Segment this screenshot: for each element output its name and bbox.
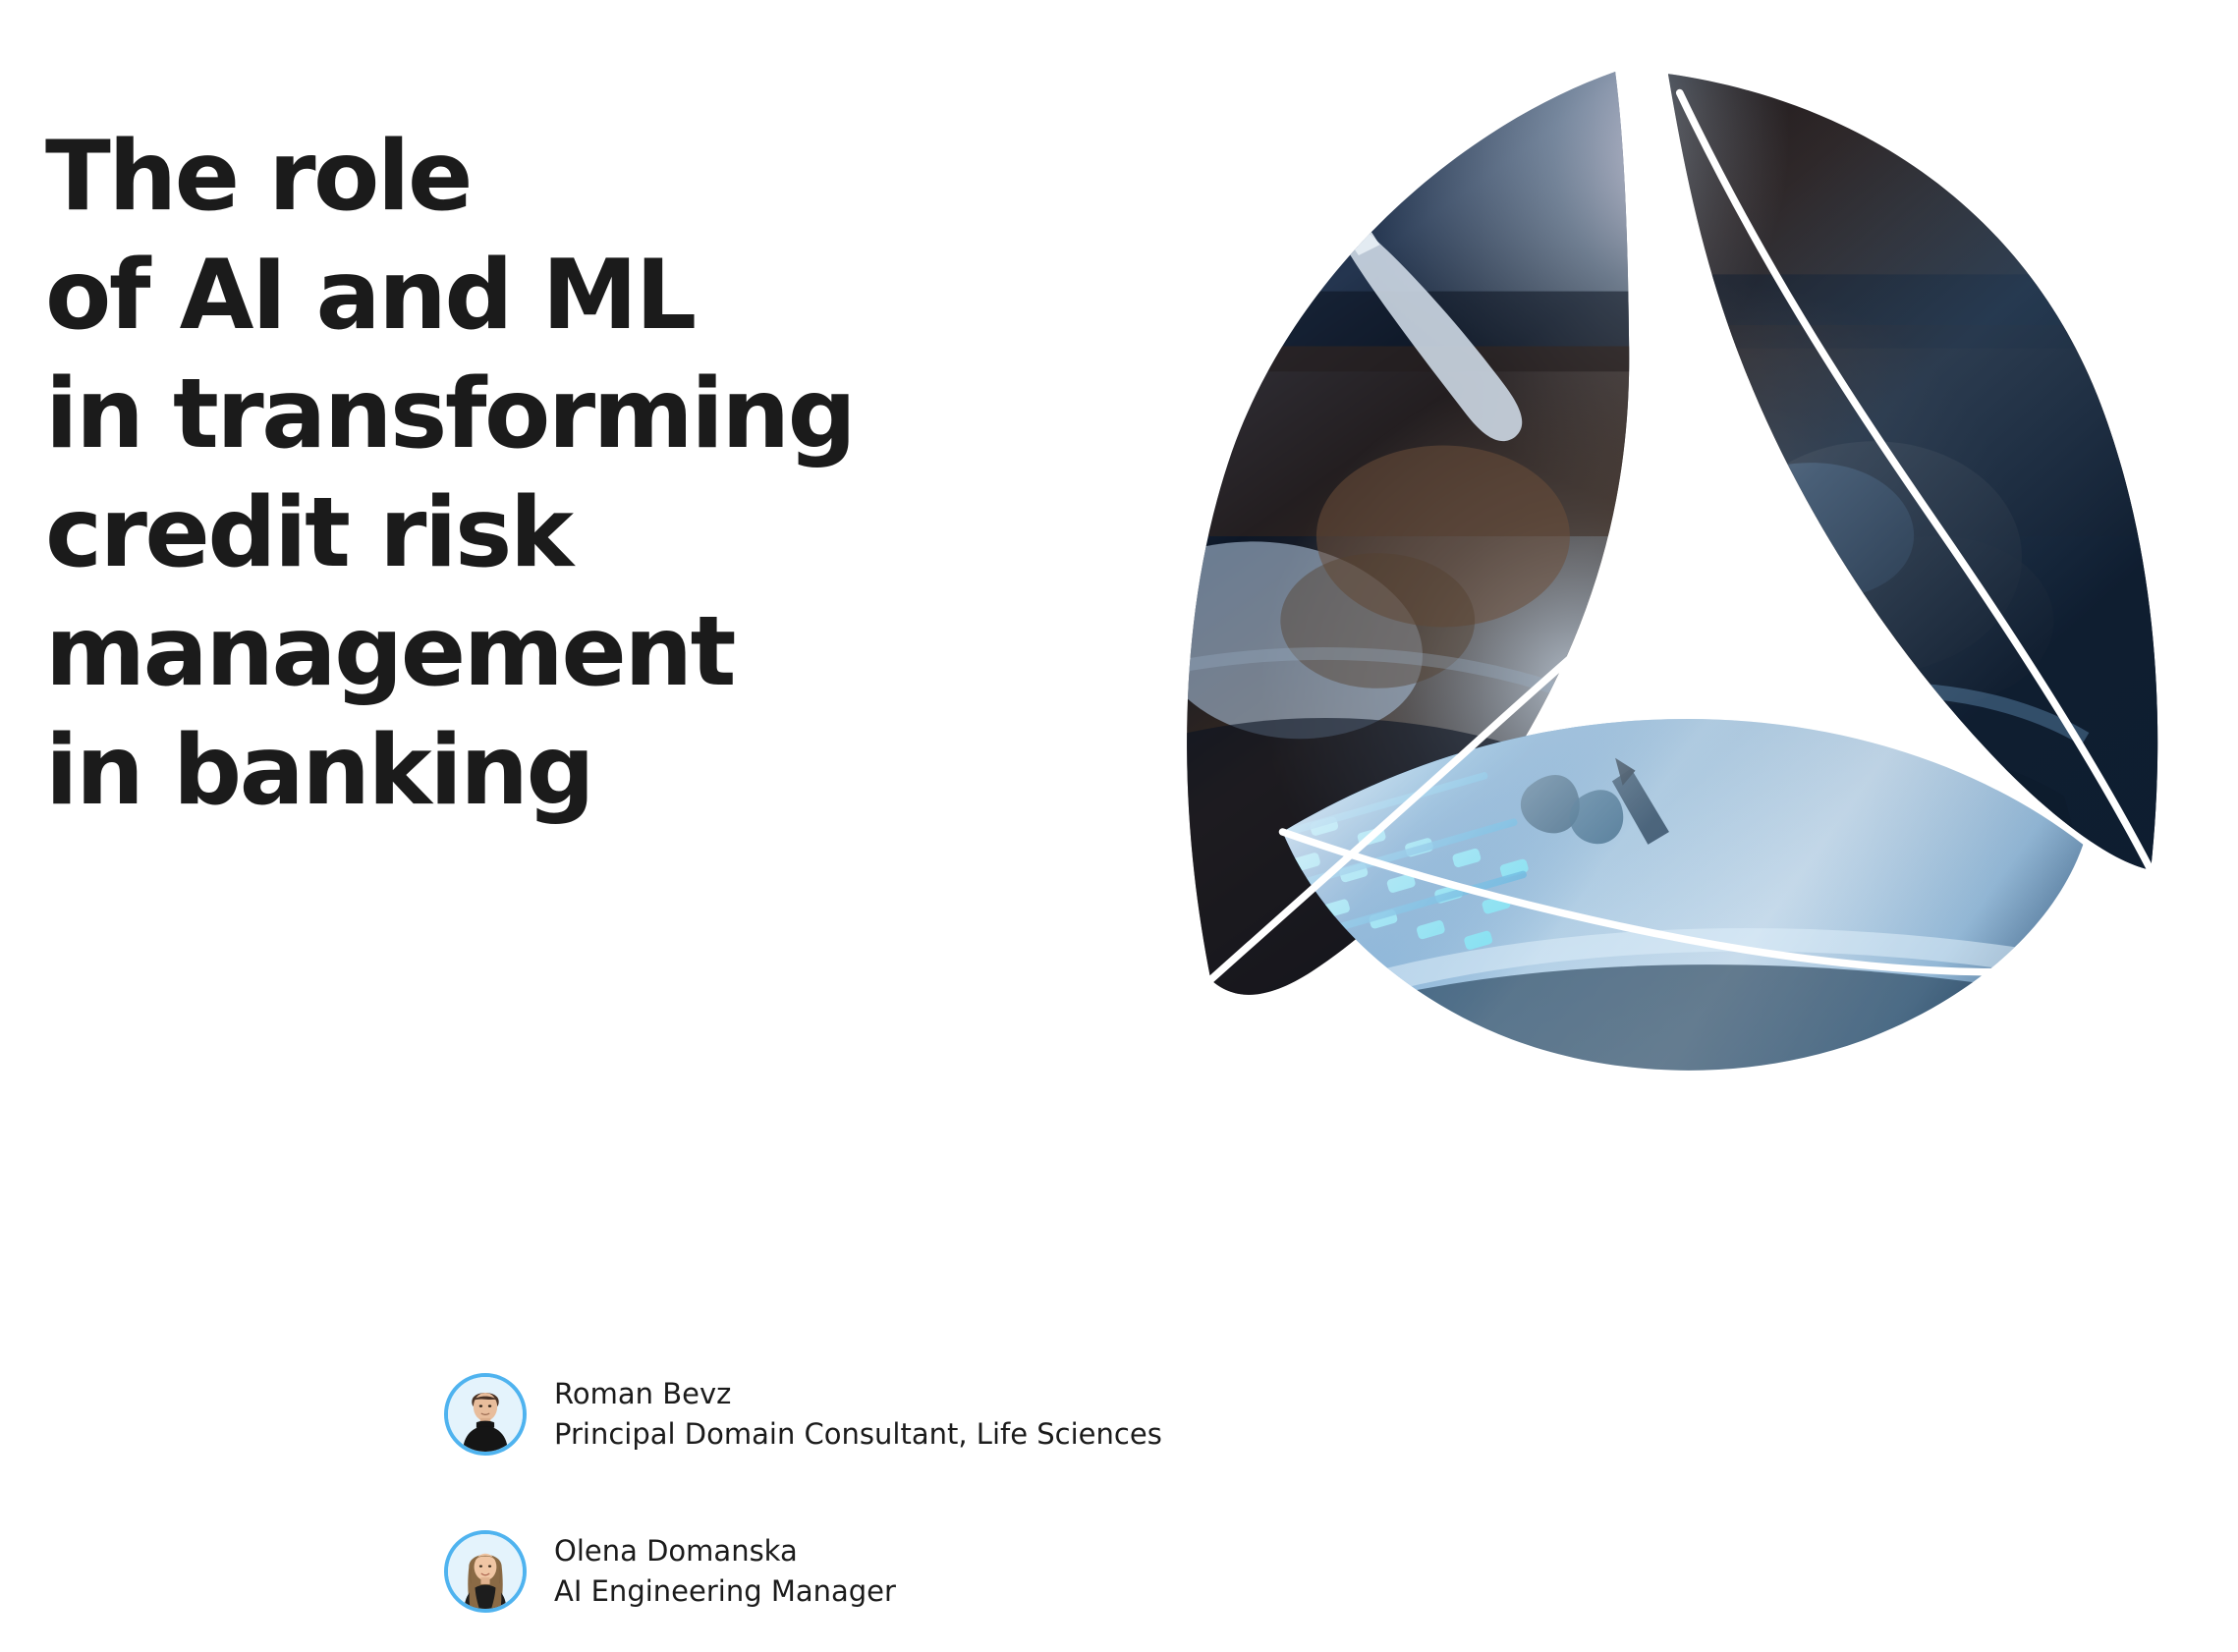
speaker-list: Roman Bevz Principal Domain Consultant, … [444, 1336, 1819, 1650]
presentation-slide: The role of AI and ML in transforming cr… [0, 0, 2238, 1652]
speaker-name: Olena Domanska [554, 1537, 896, 1566]
speaker-item: Olena Domanska AI Engineering Manager [444, 1493, 1819, 1650]
avatar [444, 1530, 527, 1613]
title-line-3: in transforming [45, 356, 1106, 474]
avatar-olena-domanska-icon [448, 1534, 523, 1609]
title-line-6: in banking [45, 712, 1106, 831]
title-line-5: management [45, 593, 1106, 712]
speaker-item: Roman Bevz Principal Domain Consultant, … [444, 1336, 1819, 1493]
page-title: The role of AI and ML in transforming cr… [45, 118, 1106, 831]
title-line-4: credit risk [45, 474, 1106, 593]
speaker-role: Principal Domain Consultant, Life Scienc… [554, 1420, 1162, 1449]
petal-collage-svg [1135, 29, 2191, 1085]
speaker-text: Roman Bevz Principal Domain Consultant, … [554, 1380, 1162, 1449]
avatar [444, 1373, 527, 1456]
speaker-name: Roman Bevz [554, 1380, 1162, 1408]
speaker-role: AI Engineering Manager [554, 1577, 896, 1606]
speaker-text: Olena Domanska AI Engineering Manager [554, 1537, 896, 1606]
title-line-2: of AI and ML [45, 237, 1106, 356]
title-line-1: The role [45, 118, 1106, 237]
avatar-roman-bevz-icon [448, 1377, 523, 1452]
hero-graphic [1135, 29, 2191, 1085]
